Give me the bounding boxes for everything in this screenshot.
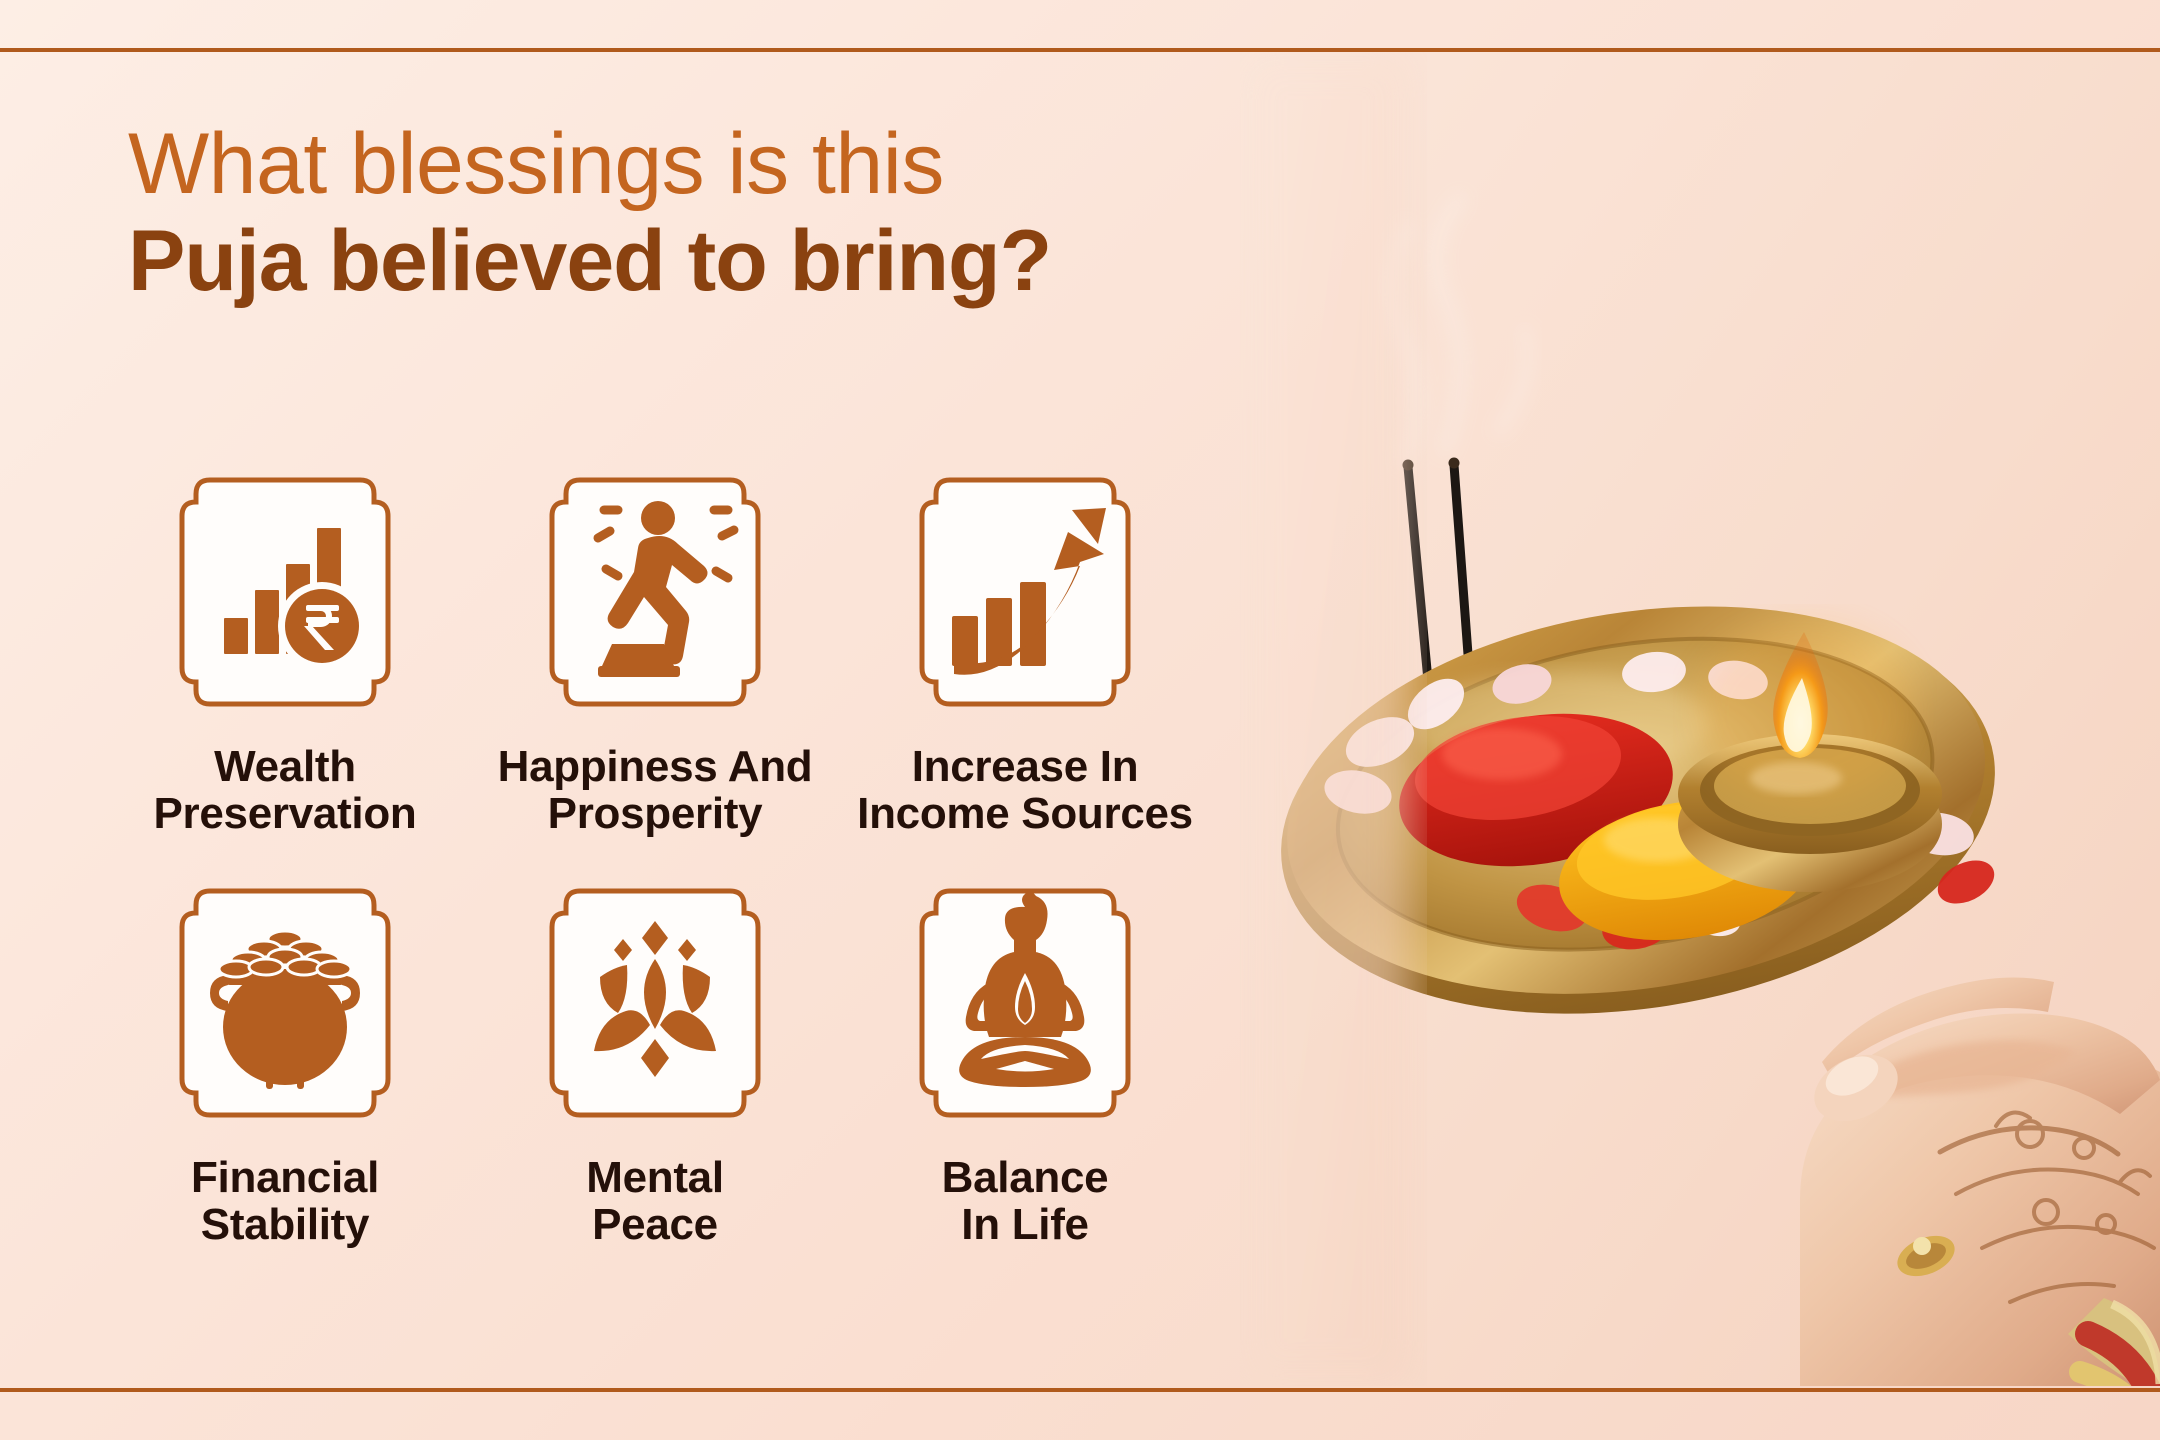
- blessing-caption: Increase In Income Sources: [857, 744, 1193, 837]
- headline-block: What blessings is this Puja believed to …: [128, 118, 1408, 312]
- icon-card: [896, 466, 1154, 718]
- blessing-item-financial-stability[interactable]: Financial Stability: [100, 877, 470, 1248]
- icon-card: [526, 877, 784, 1129]
- blessing-item-increase-income-sources[interactable]: Increase In Income Sources: [840, 466, 1210, 837]
- infographic-canvas: What blessings is this Puja believed to …: [0, 0, 2160, 1440]
- icon-card: [896, 877, 1154, 1129]
- blessing-item-mental-peace[interactable]: Mental Peace: [470, 877, 840, 1248]
- icon-card: [156, 466, 414, 718]
- icon-card: [156, 877, 414, 1129]
- headline-line-2: Puja believed to bring?: [128, 211, 1408, 312]
- puja-thali-photo: [1240, 52, 2160, 1386]
- blessing-caption: Financial Stability: [191, 1155, 379, 1248]
- blessings-grid: Wealth Preservation: [100, 466, 1210, 1249]
- headline-line-1: What blessings is this: [128, 118, 1408, 211]
- blessing-item-balance-in-life[interactable]: Balance In Life: [840, 877, 1210, 1248]
- blessing-caption: Wealth Preservation: [154, 744, 417, 837]
- icon-card: [526, 466, 784, 718]
- blessing-item-happiness-prosperity[interactable]: Happiness And Prosperity: [470, 466, 840, 837]
- blessing-caption: Balance In Life: [942, 1155, 1109, 1248]
- blessing-caption: Happiness And Prosperity: [498, 744, 813, 837]
- bottom-divider-rule: [0, 1388, 2160, 1392]
- mehndi-decorated-hand: [1800, 977, 2160, 1386]
- blessing-item-wealth-preservation[interactable]: Wealth Preservation: [100, 466, 470, 837]
- blessing-caption: Mental Peace: [586, 1155, 724, 1248]
